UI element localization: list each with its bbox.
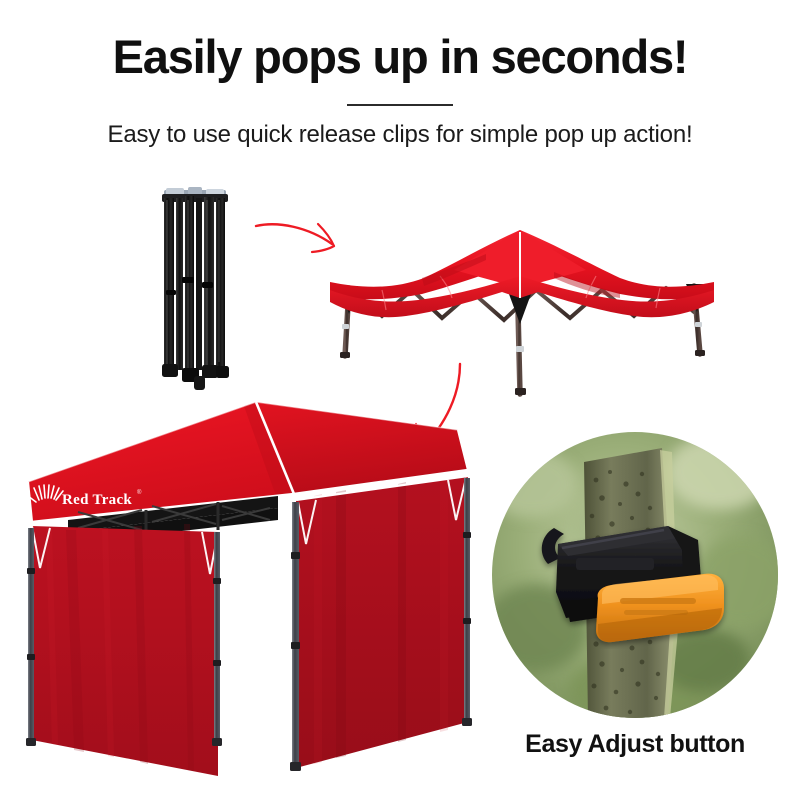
svg-text:®: ® [137, 489, 142, 496]
frame-poles [164, 196, 225, 372]
gazebo-left-wall [32, 524, 218, 776]
leg-front-right [292, 502, 299, 770]
frame-feet [162, 364, 229, 390]
title-divider [347, 104, 453, 106]
canopy-feet [340, 350, 705, 395]
partially-opened-canopy-figure [322, 228, 722, 400]
infographic-page: Easily pops up in seconds! Easy to use q… [0, 0, 800, 800]
leg-centre [214, 532, 220, 744]
assembled-gazebo-figure: Red Track ® [6, 392, 478, 792]
brand-name: Red Track [62, 492, 132, 508]
leg-front-left [28, 528, 34, 744]
clip-photo-caption: Easy Adjust button [492, 730, 778, 759]
photo-circle-mask [492, 432, 778, 718]
page-title: Easily pops up in seconds! [0, 32, 800, 83]
page-subtitle: Easy to use quick release clips for simp… [0, 121, 800, 149]
leg-far-right [464, 478, 470, 726]
canopy-leg-adjusters [342, 322, 702, 352]
folded-gazebo-frame-figure [152, 182, 238, 390]
gazebo-right-wall [296, 476, 468, 768]
easy-adjust-clip-photo [492, 432, 778, 718]
